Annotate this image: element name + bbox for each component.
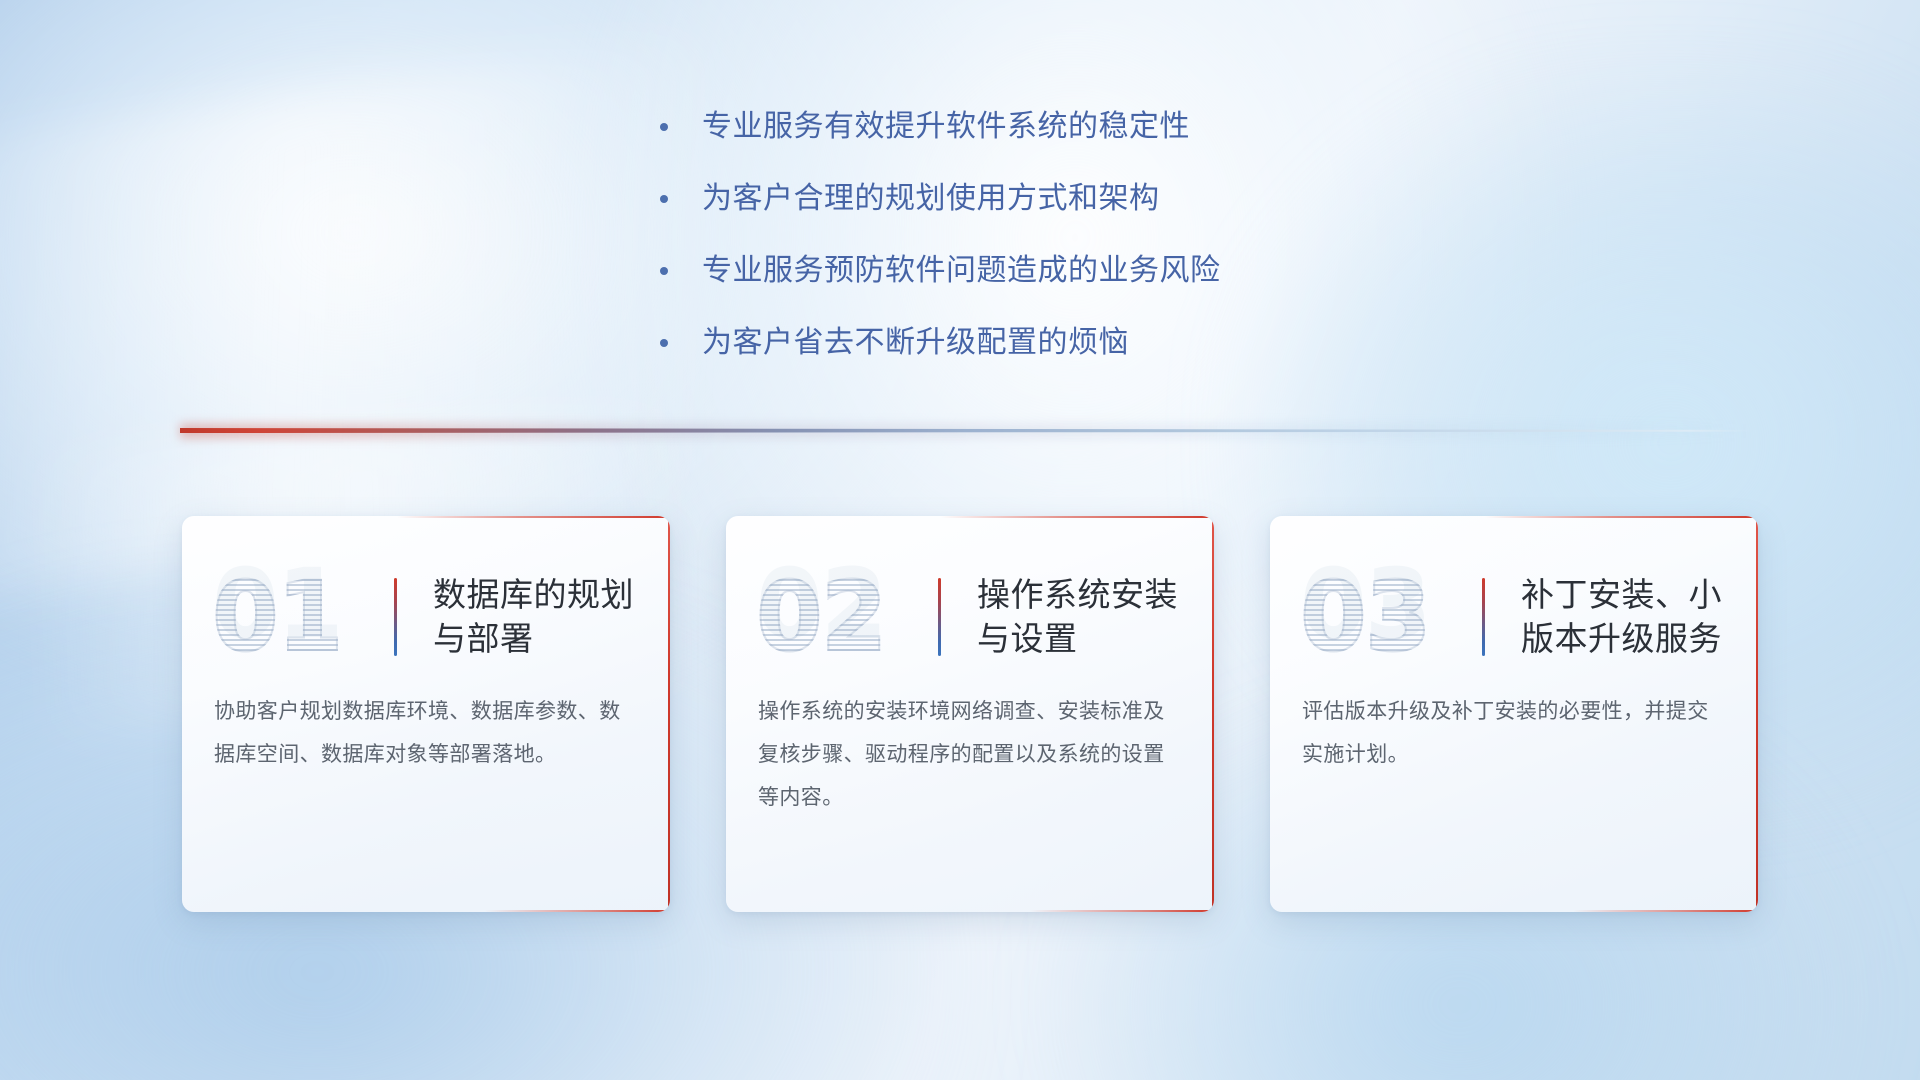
benefits-bullet-list: 专业服务有效提升软件系统的稳定性 为客户合理的规划使用方式和架构 专业服务预防软… <box>660 108 1420 396</box>
service-card-02[interactable]: 02 02 操作系统安装与设置 操作系统的安装环境网络调查、安装标准及复核步骤、… <box>726 516 1214 912</box>
list-item: 为客户合理的规划使用方式和架构 <box>660 180 1420 218</box>
card-bottom-accent-bar <box>1029 910 1214 912</box>
list-item: 为客户省去不断升级配置的烦恼 <box>660 324 1420 362</box>
card-number-watermark: 03 <box>1300 569 1482 665</box>
bullet-point-icon <box>660 339 668 347</box>
card-title: 补丁安装、小版本升级服务 <box>1521 573 1730 661</box>
bullet-item-label: 为客户省去不断升级配置的烦恼 <box>702 324 1129 362</box>
bullet-item-label: 为客户合理的规划使用方式和架构 <box>702 180 1160 218</box>
card-number-watermark: 02 <box>756 569 938 665</box>
card-title: 数据库的规划与部署 <box>433 573 642 661</box>
card-header: 01 01 数据库的规划与部署 <box>182 516 670 684</box>
service-card-group: 01 01 数据库的规划与部署 协助客户规划数据库环境、数据库参数、数据库空间、… <box>182 516 1758 912</box>
service-card-01[interactable]: 01 01 数据库的规划与部署 协助客户规划数据库环境、数据库参数、数据库空间、… <box>182 516 670 912</box>
card-title-divider <box>394 578 397 656</box>
card-header: 02 02 操作系统安装与设置 <box>726 516 1214 684</box>
list-item: 专业服务有效提升软件系统的稳定性 <box>660 108 1420 146</box>
service-card-03[interactable]: 03 03 补丁安装、小版本升级服务 评估版本升级及补丁安装的必要性，并提交实施… <box>1270 516 1758 912</box>
card-description: 协助客户规划数据库环境、数据库参数、数据库空间、数据库对象等部署落地。 <box>182 684 670 776</box>
bullet-item-label: 专业服务有效提升软件系统的稳定性 <box>702 108 1190 146</box>
card-number-watermark: 01 <box>212 569 394 665</box>
bullet-point-icon <box>660 123 668 131</box>
card-bottom-accent-bar <box>1573 910 1758 912</box>
section-divider <box>180 424 1752 438</box>
list-item: 专业服务预防软件问题造成的业务风险 <box>660 252 1420 290</box>
bullet-item-label: 专业服务预防软件问题造成的业务风险 <box>702 252 1221 290</box>
card-header: 03 03 补丁安装、小版本升级服务 <box>1270 516 1758 684</box>
bullet-point-icon <box>660 195 668 203</box>
card-description: 评估版本升级及补丁安装的必要性，并提交实施计划。 <box>1270 684 1758 776</box>
card-title-divider <box>938 578 941 656</box>
card-bottom-accent-bar <box>485 910 670 912</box>
bullet-point-icon <box>660 267 668 275</box>
card-title: 操作系统安装与设置 <box>977 573 1186 661</box>
card-description: 操作系统的安装环境网络调查、安装标准及复核步骤、驱动程序的配置以及系统的设置等内… <box>726 684 1214 819</box>
card-title-divider <box>1482 578 1485 656</box>
